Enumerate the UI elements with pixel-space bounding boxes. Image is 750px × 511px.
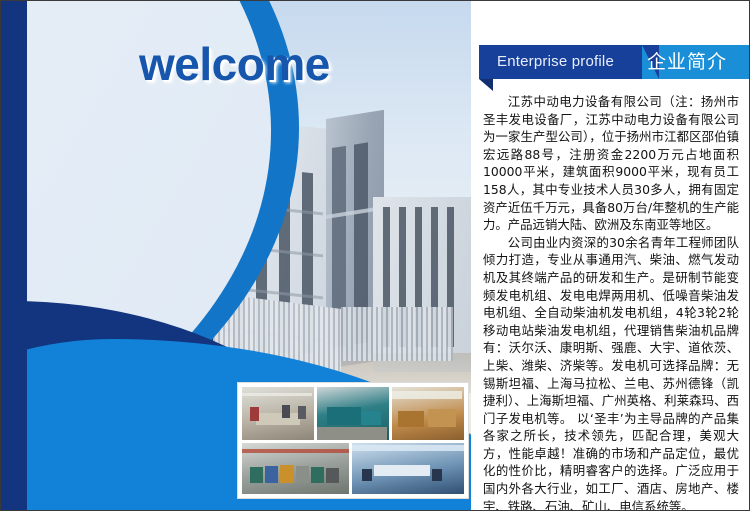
factory-workshop-photo bbox=[242, 443, 349, 494]
profile-paragraph-1: 江苏中动电力设备有限公司（注：扬州市圣丰发电设备厂，江苏中动电力设备有限公司为一… bbox=[483, 93, 739, 234]
banner-chinese-label: 企业简介 bbox=[647, 45, 727, 79]
office-photo bbox=[392, 387, 464, 440]
boardroom-photo bbox=[352, 443, 464, 494]
factory-gate-secondary bbox=[341, 307, 453, 361]
banner-tail-notch bbox=[479, 79, 493, 91]
company-profile-text: 江苏中动电力设备有限公司（注：扬州市圣丰发电设备厂，江苏中动电力设备有限公司为一… bbox=[483, 93, 739, 511]
photo-gallery bbox=[237, 382, 469, 499]
left-edge-bar bbox=[1, 1, 27, 510]
company-profile-slide: 中动电力 江苏中动电力设备有限公司 Zhongdong Power Equipm… bbox=[0, 0, 750, 511]
banner-english-label: Enterprise profile bbox=[497, 45, 614, 79]
generator-set-photo bbox=[317, 387, 389, 440]
hero-section: 中动电力 江苏中动电力设备有限公司 Zhongdong Power Equipm… bbox=[1, 1, 471, 510]
section-banner: Enterprise profile 企业简介 bbox=[479, 45, 749, 79]
profile-panel: Enterprise profile 企业简介 江苏中动电力设备有限公司（注：扬… bbox=[471, 1, 749, 510]
welcome-heading: welcome bbox=[139, 37, 330, 91]
meeting-room-photo bbox=[242, 387, 314, 440]
profile-paragraph-2: 公司由业内资深的30余名青年工程师团队倾力打造，专业从事通用汽、柴油、燃气发动机… bbox=[483, 234, 739, 511]
